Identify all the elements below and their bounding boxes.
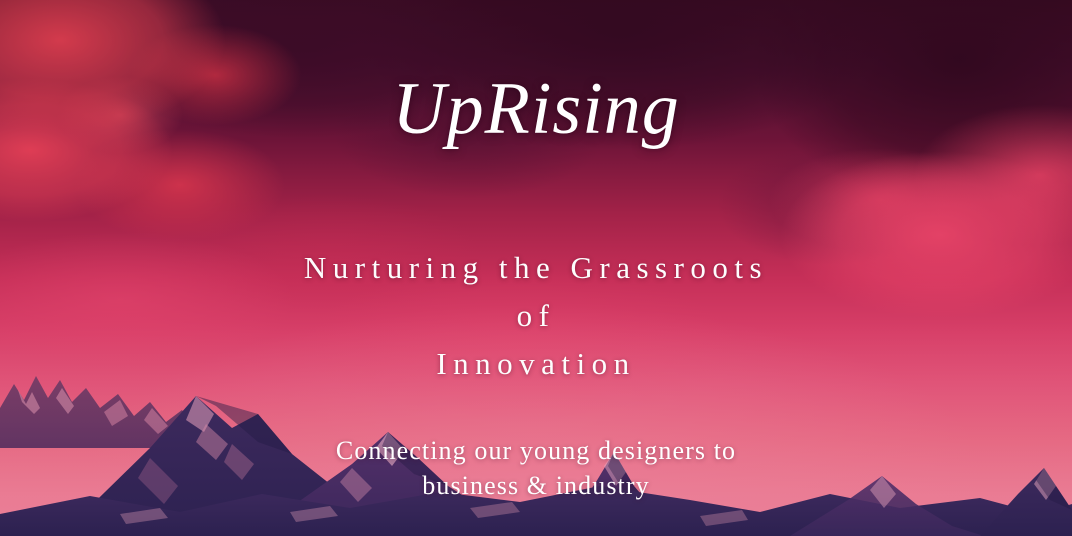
subtitle-block: Nurturing the Grassroots of Innovation [304,244,768,388]
tagline-line-1: Connecting our young designers to [336,433,736,468]
subtitle-line-1: Nurturing the Grassroots [304,244,768,292]
tagline-block: Connecting our young designers to busine… [336,433,736,503]
page-title: UpRising [392,72,680,146]
tagline-line-2: business & industry [336,468,736,503]
hero-text-content: UpRising Nurturing the Grassroots of Inn… [0,0,1072,536]
subtitle-line-2: of [304,292,768,340]
subtitle-line-3: Innovation [304,340,768,388]
uprising-hero-banner: UpRising Nurturing the Grassroots of Inn… [0,0,1072,536]
